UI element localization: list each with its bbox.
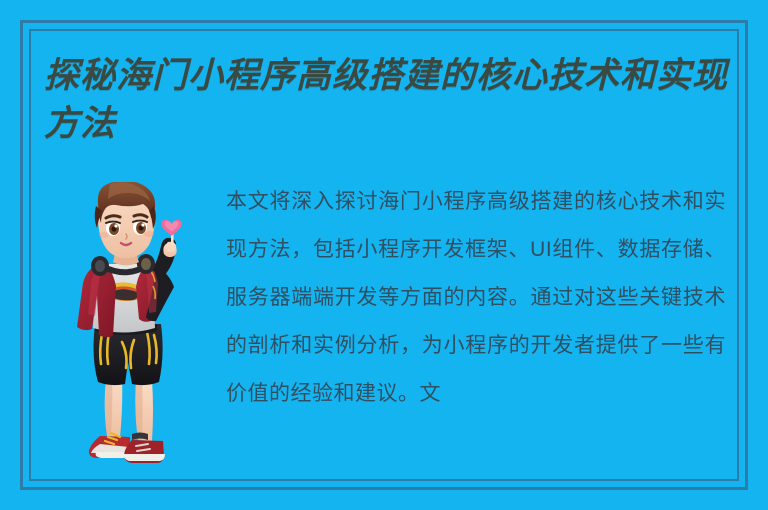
poster-title: 探秘海门小程序高级搭建的核心技术和实现方法 <box>44 52 734 148</box>
character-legs <box>105 378 153 441</box>
poster-canvas: 探秘海门小程序高级搭建的核心技术和实现方法 本文将深入探讨海门小程序高级搭建的核… <box>0 0 768 510</box>
character-arm-with-prop <box>152 220 182 278</box>
heart-lollipop-icon <box>161 220 181 236</box>
chibi-boy-character <box>62 182 214 474</box>
character-shoes <box>89 433 165 464</box>
poster-body-text: 本文将深入探讨海门小程序高级搭建的核心技术和实现方法，包括小程序开发框架、UI组… <box>226 178 726 418</box>
character-head <box>95 182 156 266</box>
